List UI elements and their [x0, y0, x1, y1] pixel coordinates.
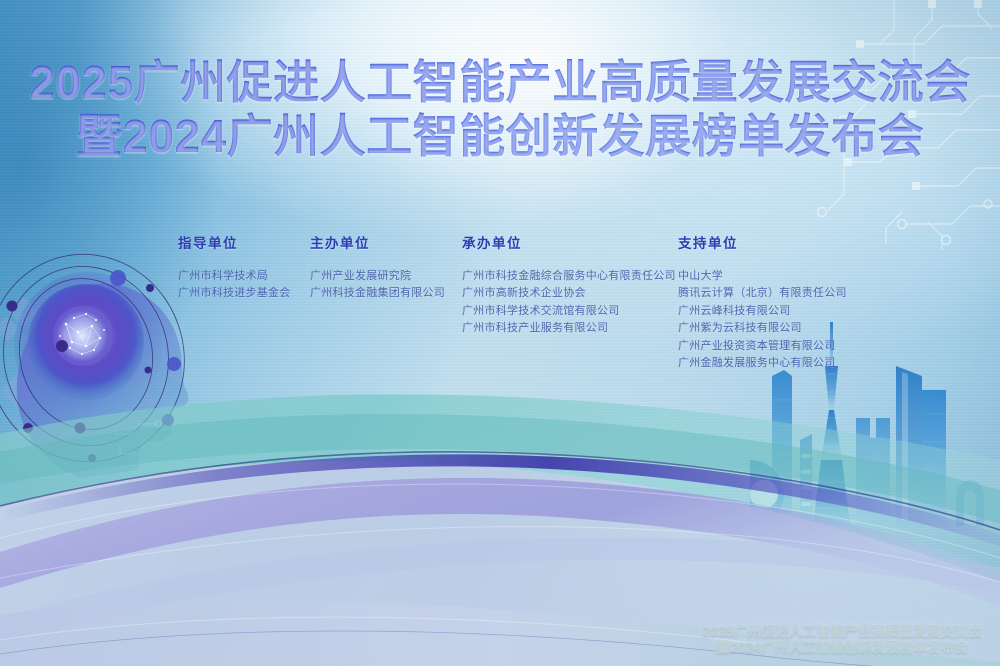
org-column-header: 指导单位 [178, 232, 291, 252]
org-item: 广州市高新技术企业协会 [462, 285, 676, 302]
event-backdrop-poster: 2025广州促进人工智能产业高质量发展交流会 暨2024广州人工智能创新发展榜单… [0, 0, 1000, 666]
org-item: 广州市科技进步基金会 [178, 285, 291, 302]
event-title-line-2: 暨2024广州人工智能创新发展榜单发布会 [0, 112, 1000, 160]
organization-columns: 指导单位 广州市科学技术局 广州市科技进步基金会 主办单位 广州产业发展研究院 … [170, 232, 870, 382]
org-item: 广州产业投资资本管理有限公司 [678, 338, 847, 355]
decorative-wave-ribbons [0, 356, 1000, 666]
org-item: 广州云峰科技有限公司 [678, 303, 847, 320]
event-title-line-1: 2025广州促进人工智能产业高质量发展交流会 [0, 58, 1000, 106]
org-item: 广州市科技金融综合服务中心有限责任公司 [462, 268, 676, 285]
org-column-host: 承办单位 广州市科技金融综合服务中心有限责任公司 广州市高新技术企业协会 广州市… [462, 232, 676, 338]
org-column-header: 支持单位 [678, 232, 847, 252]
org-item: 广州科技金融集团有限公司 [310, 285, 445, 302]
org-item: 广州紫为云科技有限公司 [678, 320, 847, 337]
org-column-supporters: 支持单位 中山大学 腾讯云计算（北京）有限责任公司 广州云峰科技有限公司 广州紫… [678, 232, 847, 372]
org-column-header: 主办单位 [310, 232, 445, 252]
org-item: 广州产业发展研究院 [310, 268, 445, 285]
event-title: 2025广州促进人工智能产业高质量发展交流会 暨2024广州人工智能创新发展榜单… [0, 58, 1000, 161]
org-item: 广州市科学技术局 [178, 268, 291, 285]
watermark-line-2: 暨2024广州人工智能创新发展榜单发布会 [702, 640, 982, 656]
bottom-watermark: 2025广州促进人工智能产业高质量发展交流会 暨2024广州人工智能创新发展榜单… [702, 624, 982, 656]
org-column-guidance: 指导单位 广州市科学技术局 广州市科技进步基金会 [178, 232, 291, 303]
org-item: 中山大学 [678, 268, 847, 285]
org-item: 广州市科技产业服务有限公司 [462, 320, 676, 337]
org-column-organizer: 主办单位 广州产业发展研究院 广州科技金融集团有限公司 [310, 232, 445, 303]
org-item: 腾讯云计算（北京）有限责任公司 [678, 285, 847, 302]
org-item: 广州金融发展服务中心有限公司 [678, 355, 847, 372]
org-column-header: 承办单位 [462, 232, 676, 252]
watermark-line-1: 2025广州促进人工智能产业高质量发展交流会 [702, 624, 982, 640]
org-item: 广州市科学技术交流馆有限公司 [462, 303, 676, 320]
